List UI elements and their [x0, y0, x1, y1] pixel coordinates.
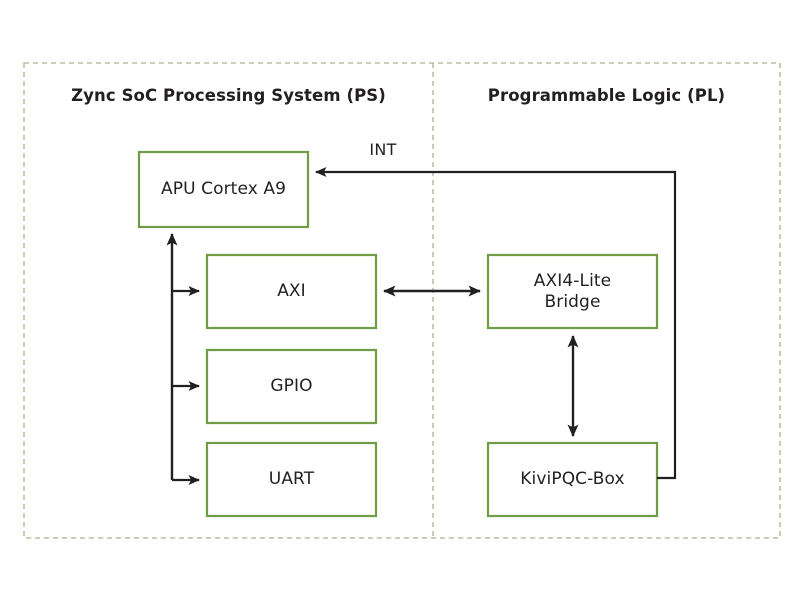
- region-title-pl: Programmable Logic (PL): [433, 86, 780, 105]
- wire-label-int: INT: [343, 140, 423, 159]
- block-axi[interactable]: [207, 255, 376, 328]
- block-kivipqc-box[interactable]: [488, 443, 657, 516]
- block-apu[interactable]: [139, 152, 308, 227]
- region-title-ps: Zync SoC Processing System (PS): [24, 86, 433, 105]
- outer-region-border: [24, 63, 780, 538]
- diagram-canvas: Zync SoC Processing System (PS) Programm…: [0, 0, 800, 600]
- block-gpio[interactable]: [207, 350, 376, 423]
- block-axi4-lite-bridge[interactable]: [488, 255, 657, 328]
- block-uart[interactable]: [207, 443, 376, 516]
